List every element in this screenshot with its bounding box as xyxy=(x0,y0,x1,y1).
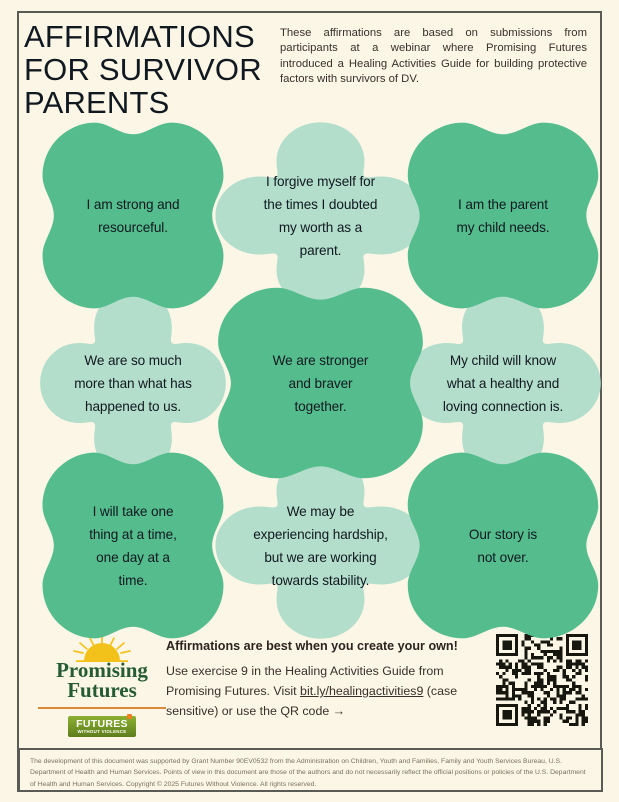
grant-disclaimer: The development of this document was sup… xyxy=(18,748,603,792)
logo-divider xyxy=(38,707,166,709)
affirmation-card: Our story is not over. xyxy=(403,448,603,643)
affirmation-text: Our story is not over. xyxy=(403,448,603,643)
futures-without-violence-logo: FUTURES WITHOUT VIOLENCE xyxy=(68,716,136,737)
footer: Promising Futures FUTURES WITHOUT VIOLEN… xyxy=(18,630,601,740)
page-title: AFFIRMATIONS FOR SURVIVOR PARENTS xyxy=(24,20,274,119)
fwv-line-1: FUTURES xyxy=(76,719,128,729)
cta-body: Use exercise 9 in the Healing Activities… xyxy=(166,661,486,721)
logo-accent-dot xyxy=(127,714,132,719)
fwv-line-2: WITHOUT VIOLENCE xyxy=(78,729,127,734)
affirmation-card: I am the parent my child needs. xyxy=(403,118,603,313)
affirmation-card: I am strong and resourceful. xyxy=(38,118,228,313)
poster-page: AFFIRMATIONS FOR SURVIVOR PARENTS These … xyxy=(0,0,619,802)
promising-futures-logo: Promising Futures FUTURES WITHOUT VIOLEN… xyxy=(32,634,172,737)
affirmation-card: I will take one thing at a time, one day… xyxy=(38,448,228,643)
qr-code[interactable] xyxy=(496,634,588,726)
cta-line-2-prefix: Promising Futures. Visit xyxy=(166,684,300,698)
healing-activities-link[interactable]: bit.ly/healingactivities9 xyxy=(300,684,423,698)
affirmation-grid: I am strong and resourceful.I forgive my… xyxy=(18,118,601,628)
affirmation-text: I am strong and resourceful. xyxy=(38,118,228,313)
affirmation-text: I am the parent my child needs. xyxy=(403,118,603,313)
affirmation-card: We are stronger and braver together. xyxy=(213,283,428,483)
affirmation-text: I will take one thing at a time, one day… xyxy=(38,448,228,643)
call-to-action: Affirmations are best when you create yo… xyxy=(166,638,486,721)
logo-name-line-2: Futures xyxy=(32,680,172,702)
intro-paragraph: These affirmations are based on submissi… xyxy=(280,26,587,88)
affirmation-text: We are stronger and braver together. xyxy=(213,283,428,483)
cta-line-1: Use exercise 9 in the Healing Activities… xyxy=(166,664,444,678)
